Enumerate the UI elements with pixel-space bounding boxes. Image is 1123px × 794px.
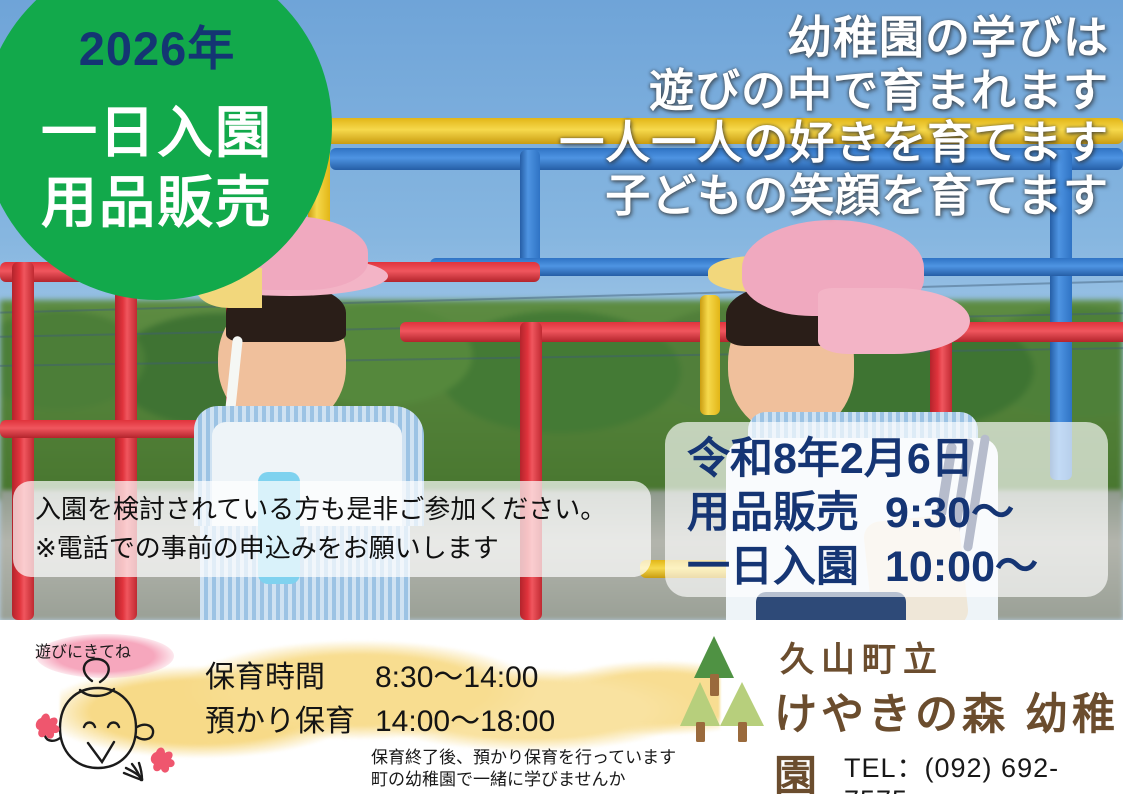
- school-town-name: 久山町立: [780, 632, 944, 681]
- school-telephone: TEL：(092) 692-7575: [844, 746, 1122, 794]
- hours-row-2-value: 14:00〜18:00: [375, 696, 555, 740]
- school-identity-block: 久山町立 けやきの森 幼稚園 TEL：(092) 692-7575: [672, 628, 1122, 788]
- hours-note-line-2: 町の幼稚園で一緒に学びませんか: [371, 769, 676, 791]
- flower-left-icon: [36, 714, 60, 739]
- hours-row-1-value: 8:30〜14:00: [375, 652, 538, 696]
- schedule-row-1-label: 用品販売: [687, 486, 859, 540]
- hours-row-2: 預かり保育 14:00〜18:00: [205, 696, 676, 740]
- schedule-box: 令和8年2月6日 用品販売9:30〜 一日入園10:00〜: [665, 422, 1108, 597]
- schedule-row-2: 一日入園10:00〜: [687, 540, 1108, 594]
- badge-year: 2026年: [0, 10, 332, 79]
- schedule-row-1: 用品販売9:30〜: [687, 486, 1108, 540]
- hours-note: 保育終了後、預かり保育を行っています 町の幼稚園で一緒に学びませんか: [371, 747, 676, 791]
- hours-row-1: 保育時間 8:30〜14:00: [205, 652, 676, 696]
- schedule-row-1-time: 9:30〜: [885, 486, 1014, 540]
- hours-row-2-label: 預かり保育: [205, 696, 375, 740]
- badge-line-1: 一日入園: [0, 88, 332, 169]
- hours-row-1-label: 保育時間: [205, 652, 375, 696]
- headline-line-3: 一人一人の好きを育てます: [559, 117, 1109, 170]
- mascot-illustration: 遊びにきてね: [14, 628, 190, 788]
- headline-block: 幼稚園の学びは 遊びの中で育まれます 一人一人の好きを育てます 子どもの笑顔を育…: [559, 12, 1109, 223]
- flower-right-icon: [151, 748, 175, 773]
- headline-line-2: 遊びの中で育まれます: [559, 65, 1109, 118]
- participation-note-box: 入園を検討されている方も是非ご参加ください。 ※電話での事前の申込みをお願いしま…: [13, 481, 651, 577]
- hours-note-line-1: 保育終了後、預かり保育を行っています: [371, 747, 676, 769]
- footer-bar: 遊びにきてね: [0, 620, 1123, 794]
- schedule-date: 令和8年2月6日: [687, 432, 1108, 486]
- trees-logo-icon: [680, 634, 772, 744]
- headline-line-4: 子どもの笑顔を育てます: [559, 170, 1109, 223]
- poster-root: 2026年 一日入園 用品販売 幼稚園の学びは 遊びの中で育まれます 一人一人の…: [0, 0, 1123, 794]
- note-line-1: 入園を検討されている方も是非ご参加ください。: [35, 490, 651, 529]
- schedule-row-2-label: 一日入園: [687, 540, 859, 594]
- schedule-row-2-time: 10:00〜: [885, 540, 1038, 594]
- badge-line-2: 用品販売: [0, 158, 332, 239]
- hours-block: 保育時間 8:30〜14:00 預かり保育 14:00〜18:00 保育終了後、…: [205, 652, 676, 791]
- mascot-face-icon: [14, 628, 190, 788]
- note-line-2: ※電話での事前の申込みをお願いします: [35, 529, 651, 568]
- headline-line-1: 幼稚園の学びは: [559, 12, 1109, 65]
